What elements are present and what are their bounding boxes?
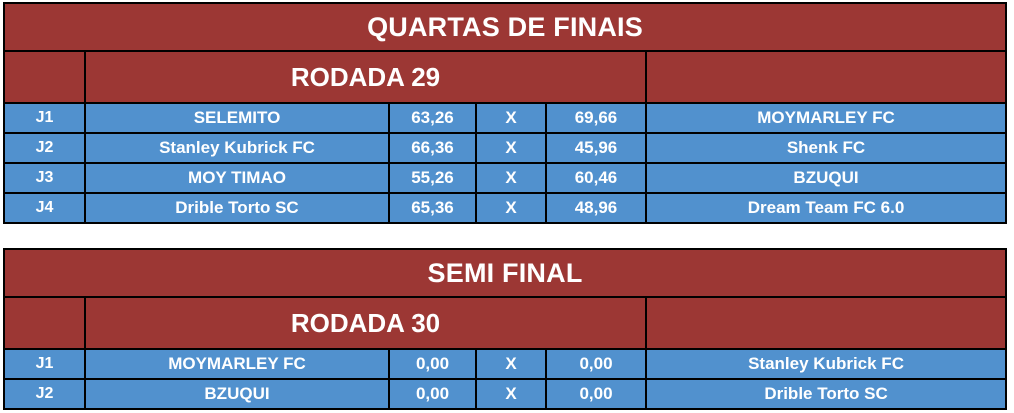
home-team-score: 66,36 <box>389 133 476 163</box>
semifinal-round-row: RODADA 30 <box>4 297 1006 349</box>
home-team-score: 65,36 <box>389 193 476 223</box>
table-row[interactable]: J2 Stanley Kubrick FC 66,36 X 45,96 Shen… <box>4 133 1006 163</box>
semifinal-round-right-spacer <box>646 297 1006 349</box>
table-row[interactable]: J1 SELEMITO 63,26 X 69,66 MOYMARLEY FC <box>4 103 1006 133</box>
home-team-name: BZUQUI <box>85 379 389 409</box>
away-team-name: BZUQUI <box>646 163 1006 193</box>
table-row[interactable]: J2 BZUQUI 0,00 X 0,00 Drible Torto SC <box>4 379 1006 409</box>
away-team-score: 48,96 <box>546 193 646 223</box>
home-team-score: 0,00 <box>389 349 476 379</box>
versus-separator: X <box>476 103 546 133</box>
home-team-name: MOYMARLEY FC <box>85 349 389 379</box>
home-team-name: SELEMITO <box>85 103 389 133</box>
semifinal-title-row: SEMI FINAL <box>4 249 1006 297</box>
versus-separator: X <box>476 133 546 163</box>
quarterfinals-title: QUARTAS DE FINAIS <box>4 3 1006 51</box>
home-team-score: 0,00 <box>389 379 476 409</box>
semifinal-round-left-spacer <box>4 297 85 349</box>
quarterfinals-round-left-spacer <box>4 51 85 103</box>
away-team-score: 60,46 <box>546 163 646 193</box>
table-row[interactable]: J4 Drible Torto SC 65,36 X 48,96 Dream T… <box>4 193 1006 223</box>
quarterfinals-round-right-spacer <box>646 51 1006 103</box>
quarterfinals-round-row: RODADA 29 <box>4 51 1006 103</box>
home-team-name: Drible Torto SC <box>85 193 389 223</box>
home-team-score: 55,26 <box>389 163 476 193</box>
semifinal-table: SEMI FINAL RODADA 30 J1 MOYMARLEY FC 0,0… <box>3 248 1007 410</box>
away-team-name: Drible Torto SC <box>646 379 1006 409</box>
match-code: J4 <box>4 193 85 223</box>
quarterfinals-round-label: RODADA 29 <box>85 51 646 103</box>
versus-separator: X <box>476 349 546 379</box>
away-team-name: Shenk FC <box>646 133 1006 163</box>
home-team-name: MOY TIMAO <box>85 163 389 193</box>
versus-separator: X <box>476 193 546 223</box>
semifinal-round-label: RODADA 30 <box>85 297 646 349</box>
home-team-score: 63,26 <box>389 103 476 133</box>
match-code: J3 <box>4 163 85 193</box>
away-team-score: 0,00 <box>546 349 646 379</box>
quarterfinals-table: QUARTAS DE FINAIS RODADA 29 J1 SELEMITO … <box>3 2 1007 224</box>
away-team-name: MOYMARLEY FC <box>646 103 1006 133</box>
versus-separator: X <box>476 163 546 193</box>
table-row[interactable]: J1 MOYMARLEY FC 0,00 X 0,00 Stanley Kubr… <box>4 349 1006 379</box>
away-team-name: Dream Team FC 6.0 <box>646 193 1006 223</box>
versus-separator: X <box>476 379 546 409</box>
match-code: J1 <box>4 349 85 379</box>
away-team-score: 0,00 <box>546 379 646 409</box>
bracket-sheet: QUARTAS DE FINAIS RODADA 29 J1 SELEMITO … <box>0 0 1014 413</box>
away-team-score: 45,96 <box>546 133 646 163</box>
match-code: J2 <box>4 379 85 409</box>
semifinal-title: SEMI FINAL <box>4 249 1006 297</box>
home-team-name: Stanley Kubrick FC <box>85 133 389 163</box>
table-row[interactable]: J3 MOY TIMAO 55,26 X 60,46 BZUQUI <box>4 163 1006 193</box>
match-code: J2 <box>4 133 85 163</box>
away-team-name: Stanley Kubrick FC <box>646 349 1006 379</box>
quarterfinals-title-row: QUARTAS DE FINAIS <box>4 3 1006 51</box>
match-code: J1 <box>4 103 85 133</box>
away-team-score: 69,66 <box>546 103 646 133</box>
